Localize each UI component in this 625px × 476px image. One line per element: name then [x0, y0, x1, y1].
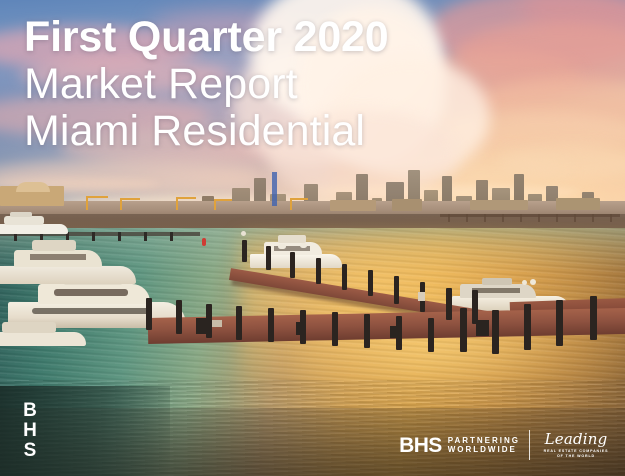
cover-title-block: First Quarter 2020 Market Report Miami R… [24, 14, 504, 155]
partnering-line-2: WORLDWIDE [448, 445, 520, 455]
yacht-center [250, 234, 342, 270]
yacht-far-left [0, 212, 68, 234]
leading-subtitle-line-2: OF THE WORLD [557, 454, 595, 459]
title-line-quarter: First Quarter 2020 [24, 14, 504, 61]
bhs-vertical-logo: B H S [17, 400, 43, 462]
bhs-wordmark: BHS [399, 435, 442, 456]
yacht-small-bottom-left [0, 318, 86, 348]
market-report-cover: First Quarter 2020 Market Report Miami R… [0, 0, 625, 476]
partnering-line-1: PARTNERING [448, 436, 520, 446]
footer-logo-group: BHS PARTNERING WORLDWIDE Leading REAL ES… [399, 430, 613, 460]
bhs-logo-letter-h: H [23, 421, 37, 441]
yacht-second-left [0, 240, 136, 286]
bhs-logo-letter-s: S [24, 441, 37, 461]
logo-divider [529, 430, 530, 460]
bhs-partnering-worldwide-logo: BHS PARTNERING WORLDWIDE [399, 435, 520, 456]
title-line-report: Market Report [24, 60, 504, 108]
partnering-worldwide-text: PARTNERING WORLDWIDE [448, 436, 520, 455]
bhs-logo-letter-b: B [23, 401, 37, 421]
leading-script-wordmark: Leading [545, 432, 608, 447]
leading-real-estate-logo: Leading REAL ESTATE COMPANIES OF THE WOR… [539, 432, 613, 458]
title-line-market: Miami Residential [24, 107, 504, 155]
